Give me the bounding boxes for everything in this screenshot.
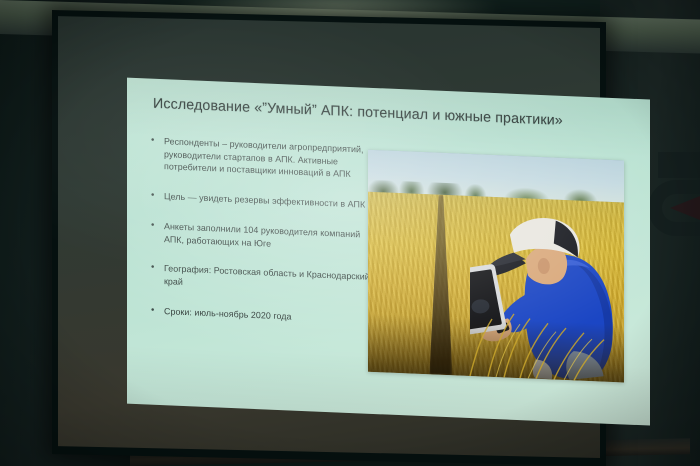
photo-foreground-stalks: [368, 250, 624, 383]
bullet-marker-icon: •: [149, 190, 164, 203]
slide-bullet-list: • Респонденты – руководители агропредпри…: [149, 135, 377, 344]
list-item: • Анкеты заполнили 104 руководителя комп…: [149, 219, 377, 254]
list-item: • Сроки: июль-ноябрь 2020 года: [149, 304, 377, 326]
bullet-text: Сроки: июль-ноябрь 2020 года: [164, 305, 292, 323]
room-scene: Исследование «”Умный” АПК: потенциал и ю…: [0, 0, 700, 466]
slide-title: Исследование «”Умный” АПК: потенциал и ю…: [153, 96, 631, 132]
bullet-text: Респонденты – руководители агропредприят…: [164, 135, 377, 182]
list-item: • Цель — увидеть резервы эффективности в…: [149, 190, 377, 212]
bullet-marker-icon: •: [149, 304, 164, 317]
bullet-marker-icon: •: [149, 135, 164, 148]
slide-photo: [368, 150, 624, 383]
list-item: • Респонденты – руководители агропредпри…: [149, 135, 377, 183]
bullet-marker-icon: •: [149, 262, 164, 275]
list-item: • География: Ростовская область и Красно…: [149, 262, 377, 297]
bullet-marker-icon: •: [149, 219, 164, 232]
bullet-text: Цель — увидеть резервы эффективности в А…: [164, 190, 365, 211]
bullet-text: География: Ростовская область и Краснода…: [164, 262, 377, 296]
presentation-slide: Исследование «”Умный” АПК: потенциал и ю…: [127, 78, 650, 426]
projector-screen: Исследование «”Умный” АПК: потенциал и ю…: [52, 10, 606, 466]
bullet-text: Анкеты заполнили 104 руководителя компан…: [164, 220, 377, 254]
